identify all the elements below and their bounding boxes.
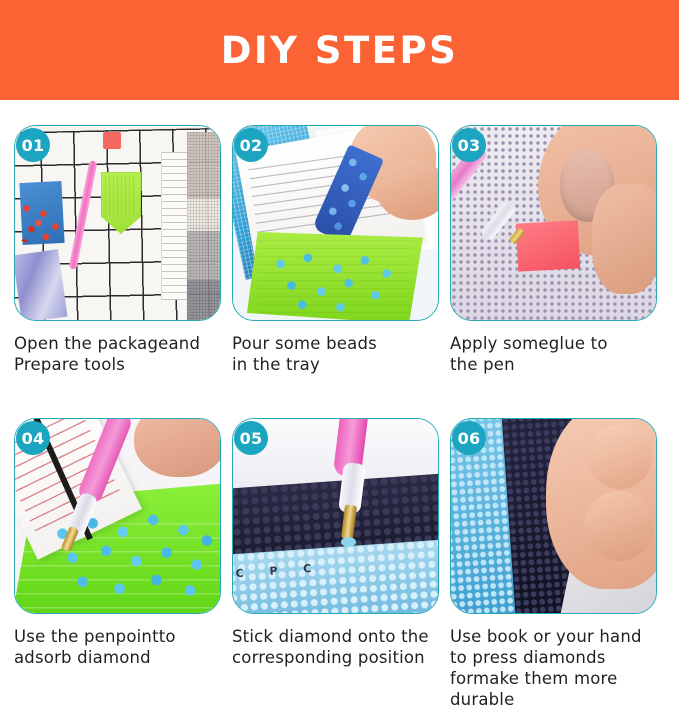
step-photo-04: 04 xyxy=(14,418,221,614)
canvas-symbols: C P C xyxy=(235,556,389,613)
finger-side xyxy=(592,184,656,294)
symbol-chart xyxy=(161,152,189,300)
step-badge-03: 03 xyxy=(452,128,486,162)
diy-steps-page: DIY STEPS 01 Open the packageand P xyxy=(0,0,679,697)
steps-row-2: 04 Use the penpointto adsorb diamond 05 xyxy=(14,418,665,710)
finger-second xyxy=(376,160,438,220)
diamond-bead xyxy=(341,537,356,547)
step-card-01[interactable]: 01 Open the packageand Prepare tools xyxy=(14,125,221,375)
step-badge-01: 01 xyxy=(16,128,50,162)
step-caption-04: Use the penpointto adsorb diamond xyxy=(14,626,221,668)
step-photo-06: 06 xyxy=(450,418,657,614)
printed-canvas xyxy=(187,132,220,320)
finger-first xyxy=(588,425,652,489)
step-card-02[interactable]: 02 Pour some beads in the tray xyxy=(232,125,439,375)
page-title: DIY STEPS xyxy=(221,32,459,69)
finger-second xyxy=(584,491,654,561)
step-photo-02: 02 xyxy=(232,125,439,321)
glue-square xyxy=(103,132,121,149)
step-photo-01: 01 xyxy=(14,125,221,321)
step-badge-06: 06 xyxy=(452,421,486,455)
step-caption-05: Stick diamond onto the corresponding pos… xyxy=(232,626,439,668)
step-caption-06: Use book or your hand to press diamonds … xyxy=(450,626,657,710)
finger xyxy=(134,419,220,477)
foil-packet xyxy=(15,249,68,320)
step-caption-03: Apply someglue to the pen xyxy=(450,333,657,375)
steps-row-1: 01 Open the packageand Prepare tools 02 xyxy=(14,125,665,375)
page-header: DIY STEPS xyxy=(0,0,679,100)
step-badge-02: 02 xyxy=(234,128,268,162)
step-card-06[interactable]: 06 Use book or your hand to press diamon… xyxy=(450,418,657,710)
step-caption-02: Pour some beads in the tray xyxy=(232,333,439,375)
glue-square xyxy=(516,220,580,271)
step-photo-03: 03 xyxy=(450,125,657,321)
step-photo-05: 05 C P C xyxy=(232,418,439,614)
step-badge-05: 05 xyxy=(234,421,268,455)
step-card-05[interactable]: 05 C P C Stick diamond onto the correspo… xyxy=(232,418,439,710)
step-card-03[interactable]: 03 Apply someglue to the pen xyxy=(450,125,657,375)
step-card-04[interactable]: 04 Use the penpointto adsorb diamond xyxy=(14,418,221,710)
step-badge-04: 04 xyxy=(16,421,50,455)
step-caption-01: Open the packageand Prepare tools xyxy=(14,333,221,375)
blue-beads-in-tray xyxy=(267,252,403,312)
